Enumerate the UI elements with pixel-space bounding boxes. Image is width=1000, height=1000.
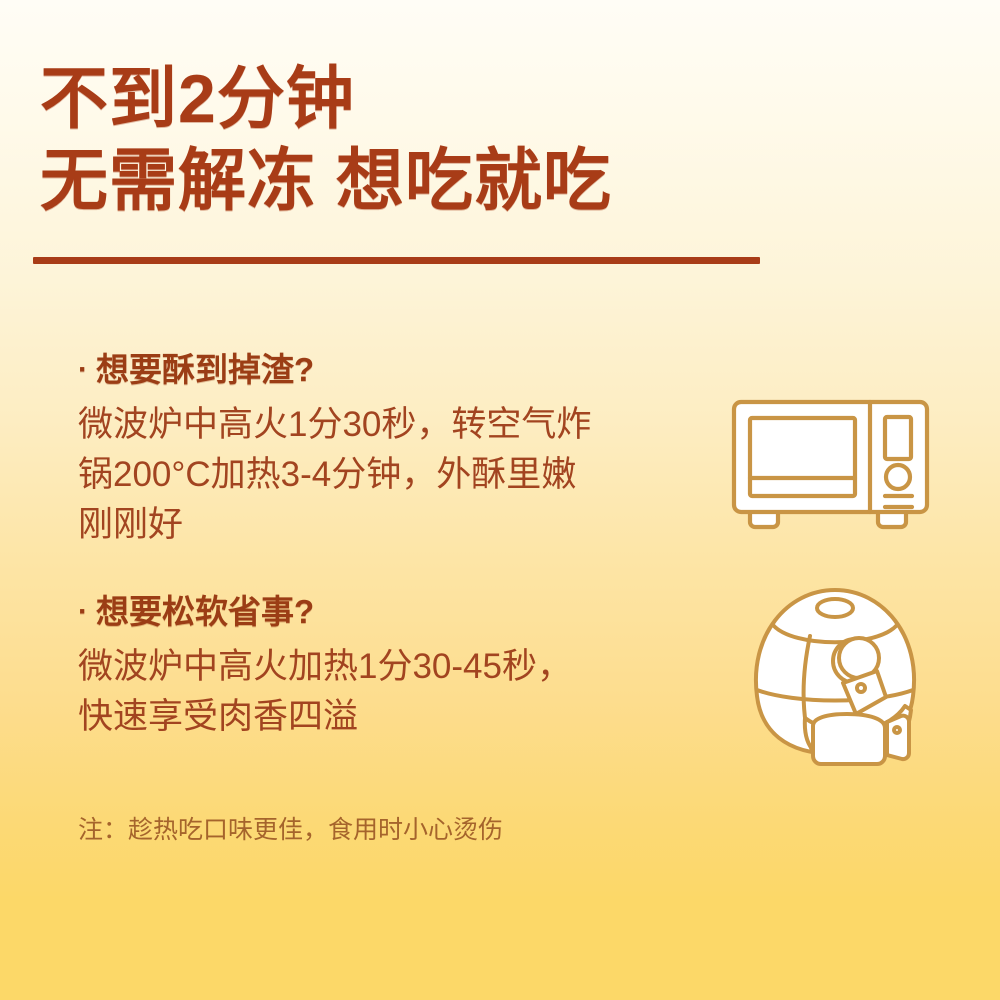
footnote: 注：趁热吃口味更佳，食用时小心烫伤	[78, 812, 503, 848]
instruction-section-soft: ·想要松软省事? 微波炉中高火加热1分30-45秒， 快速享受肉香四溢	[78, 590, 718, 742]
air-fryer-icon	[735, 578, 935, 768]
bullet-icon: ·	[78, 348, 88, 392]
body-text: 微波炉中高火加热1分30-45秒， 快速享受肉香四溢	[78, 642, 718, 742]
sub-head: ·想要酥到掉渣?	[78, 348, 718, 392]
headline-line-2: 无需解冻 想吃就吃	[40, 140, 920, 222]
body-line: 刚刚好	[78, 500, 718, 550]
headline: 不到2分钟 无需解冻 想吃就吃	[40, 58, 920, 222]
sub-head-label: 想要酥到掉渣?	[96, 351, 314, 388]
body-line: 锅200°C加热3-4分钟，外酥里嫩	[78, 450, 718, 500]
body-line: 快速享受肉香四溢	[78, 692, 718, 742]
sub-head: ·想要松软省事?	[78, 590, 718, 634]
microwave-icon	[728, 390, 933, 540]
body-line: 微波炉中高火加热1分30-45秒，	[78, 642, 718, 692]
bullet-icon: ·	[78, 590, 88, 634]
headline-line-1: 不到2分钟	[40, 58, 920, 140]
instruction-section-crispy: ·想要酥到掉渣? 微波炉中高火1分30秒，转空气炸 锅200°C加热3-4分钟，…	[78, 348, 718, 550]
body-text: 微波炉中高火1分30秒，转空气炸 锅200°C加热3-4分钟，外酥里嫩 刚刚好	[78, 400, 718, 550]
body-line: 微波炉中高火1分30秒，转空气炸	[78, 400, 718, 450]
sub-head-label: 想要松软省事?	[96, 593, 314, 630]
headline-divider	[33, 257, 760, 264]
heating-instructions-poster: 不到2分钟 无需解冻 想吃就吃 ·想要酥到掉渣? 微波炉中高火1分30秒，转空气…	[0, 0, 1000, 1000]
